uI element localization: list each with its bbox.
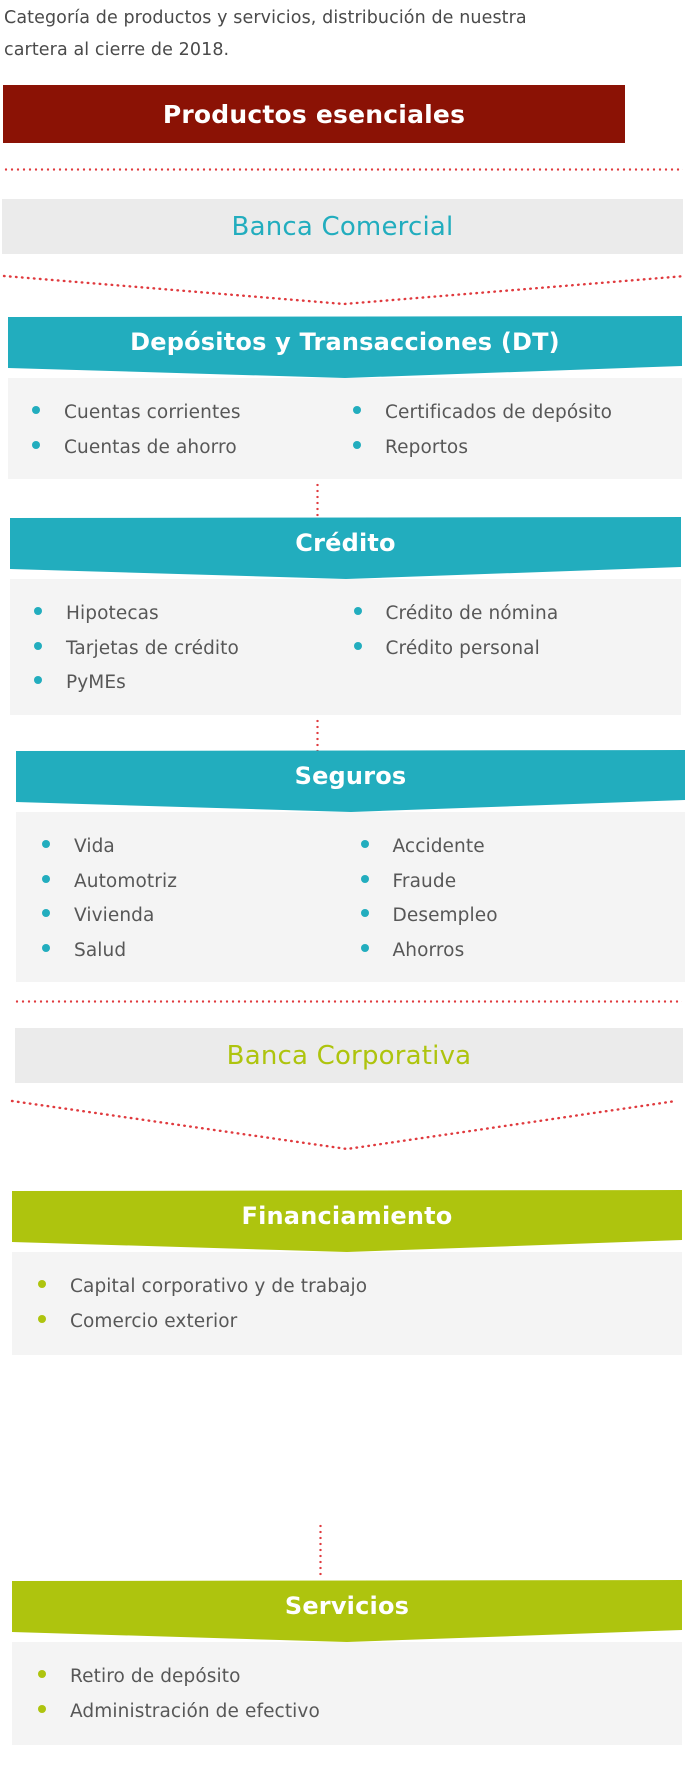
card-header-financiamiento: Financiamiento <box>12 1190 682 1252</box>
bullet-icon <box>38 1280 46 1288</box>
bullet-icon <box>34 642 42 650</box>
card-column-left: Capital corporativo y de trabajo Comerci… <box>12 1270 682 1339</box>
bullet-icon <box>42 944 50 952</box>
bullet-icon <box>38 1670 46 1678</box>
card-financiamiento: Financiamiento Capital corporativo y de … <box>12 1190 682 1355</box>
list-item: PyMEs <box>34 666 346 701</box>
card-body-depositos-y-transacciones: Cuentas corrientes Cuentas de ahorro Cer… <box>8 378 682 479</box>
card-header-servicios: Servicios <box>12 1580 682 1642</box>
card-column-left: Hipotecas Tarjetas de crédito PyMEs <box>10 597 346 701</box>
section-label-banca-corporativa: Banca Corporativa <box>227 1041 472 1071</box>
intro-line-1: Categoría de productos y servicios, dist… <box>4 2 685 34</box>
list-item: Crédito personal <box>354 632 682 667</box>
bullet-icon <box>42 840 50 848</box>
bullet-icon <box>354 642 362 650</box>
list-item: Capital corporativo y de trabajo <box>38 1270 682 1305</box>
divider-dotted-top <box>3 168 683 171</box>
bullet-icon <box>361 944 369 952</box>
list-item: Vida <box>42 830 351 865</box>
card-column-left: Vida Automotriz Vivienda Salud <box>16 830 351 968</box>
card-header-depositos-y-transacciones: Depósitos y Transacciones (DT) <box>8 316 682 378</box>
card-title-servicios: Servicios <box>285 1580 409 1620</box>
card-column-right: Certificados de depósito Reportos <box>345 396 682 465</box>
section-bar-banca-corporativa: Banca Corporativa <box>15 1028 683 1083</box>
card-column-left: Cuentas corrientes Cuentas de ahorro <box>8 396 345 465</box>
bullet-icon <box>34 607 42 615</box>
list-item: Salud <box>42 934 351 969</box>
list-item: Cuentas de ahorro <box>32 431 345 466</box>
bullet-icon <box>361 909 369 917</box>
card-title-depositos-y-transacciones: Depósitos y Transacciones (DT) <box>130 316 560 356</box>
list-item: Ahorros <box>361 934 686 969</box>
master-banner: Productos esenciales <box>3 85 625 143</box>
list-item: Certificados de depósito <box>353 396 682 431</box>
list-item: Crédito de nómina <box>354 597 682 632</box>
list-item: Reportos <box>353 431 682 466</box>
bullet-icon <box>34 676 42 684</box>
bullet-icon <box>353 406 361 414</box>
section-bar-banca-comercial: Banca Comercial <box>2 199 683 254</box>
bullet-icon <box>361 875 369 883</box>
card-body-financiamiento: Capital corporativo y de trabajo Comerci… <box>12 1252 682 1355</box>
card-depositos-y-transacciones: Depósitos y Transacciones (DT) Cuentas c… <box>8 316 682 479</box>
card-column-right: Crédito de nómina Crédito personal <box>346 597 682 701</box>
master-banner-label: Productos esenciales <box>163 100 465 129</box>
card-column-left: Retiro de depósito Administración de efe… <box>12 1660 682 1729</box>
list-item: Hipotecas <box>34 597 346 632</box>
connector-vertical-dt-credito <box>316 482 319 518</box>
card-header-seguros: Seguros <box>16 750 685 812</box>
intro-paragraph: Categoría de productos y servicios, dist… <box>4 2 685 66</box>
card-body-credito: Hipotecas Tarjetas de crédito PyMEs Créd… <box>10 579 681 715</box>
bullet-icon <box>38 1315 46 1323</box>
section-label-banca-comercial: Banca Comercial <box>232 212 454 242</box>
list-item: Tarjetas de crédito <box>34 632 346 667</box>
card-seguros: Seguros Vida Automotriz Vivienda Salud <box>16 750 685 982</box>
list-item: Desempleo <box>361 899 686 934</box>
bullet-icon <box>32 441 40 449</box>
list-item: Vivienda <box>42 899 351 934</box>
card-title-financiamiento: Financiamiento <box>242 1190 453 1230</box>
list-item: Fraude <box>361 865 686 900</box>
bullet-icon <box>32 406 40 414</box>
card-servicios: Servicios Retiro de depósito Administrac… <box>12 1580 682 1745</box>
connector-branch-banca-corporativa <box>0 1095 689 1157</box>
card-body-servicios: Retiro de depósito Administración de efe… <box>12 1642 682 1745</box>
list-item: Administración de efectivo <box>38 1695 682 1730</box>
list-item: Retiro de depósito <box>38 1660 682 1695</box>
list-item: Cuentas corrientes <box>32 396 345 431</box>
list-item: Automotriz <box>42 865 351 900</box>
card-column-right: Accidente Fraude Desempleo Ahorros <box>351 830 686 968</box>
connector-vertical-financiamiento-servicios <box>319 1523 322 1577</box>
bullet-icon <box>354 607 362 615</box>
card-header-credito: Crédito <box>10 517 681 579</box>
list-item: Comercio exterior <box>38 1305 682 1340</box>
card-title-credito: Crédito <box>295 517 396 557</box>
intro-line-2: cartera al cierre de 2018. <box>4 34 685 66</box>
bullet-icon <box>353 441 361 449</box>
bullet-icon <box>361 840 369 848</box>
connector-vertical-credito-seguros <box>316 718 319 754</box>
bullet-icon <box>42 875 50 883</box>
bullet-icon <box>42 909 50 917</box>
bullet-icon <box>38 1705 46 1713</box>
connector-branch-banca-comercial <box>0 272 689 308</box>
divider-dotted-corporativa <box>14 1000 682 1003</box>
card-credito: Crédito Hipotecas Tarjetas de crédito Py… <box>10 517 681 715</box>
card-title-seguros: Seguros <box>295 750 407 790</box>
card-body-seguros: Vida Automotriz Vivienda Salud Accidente <box>16 812 685 982</box>
list-item: Accidente <box>361 830 686 865</box>
